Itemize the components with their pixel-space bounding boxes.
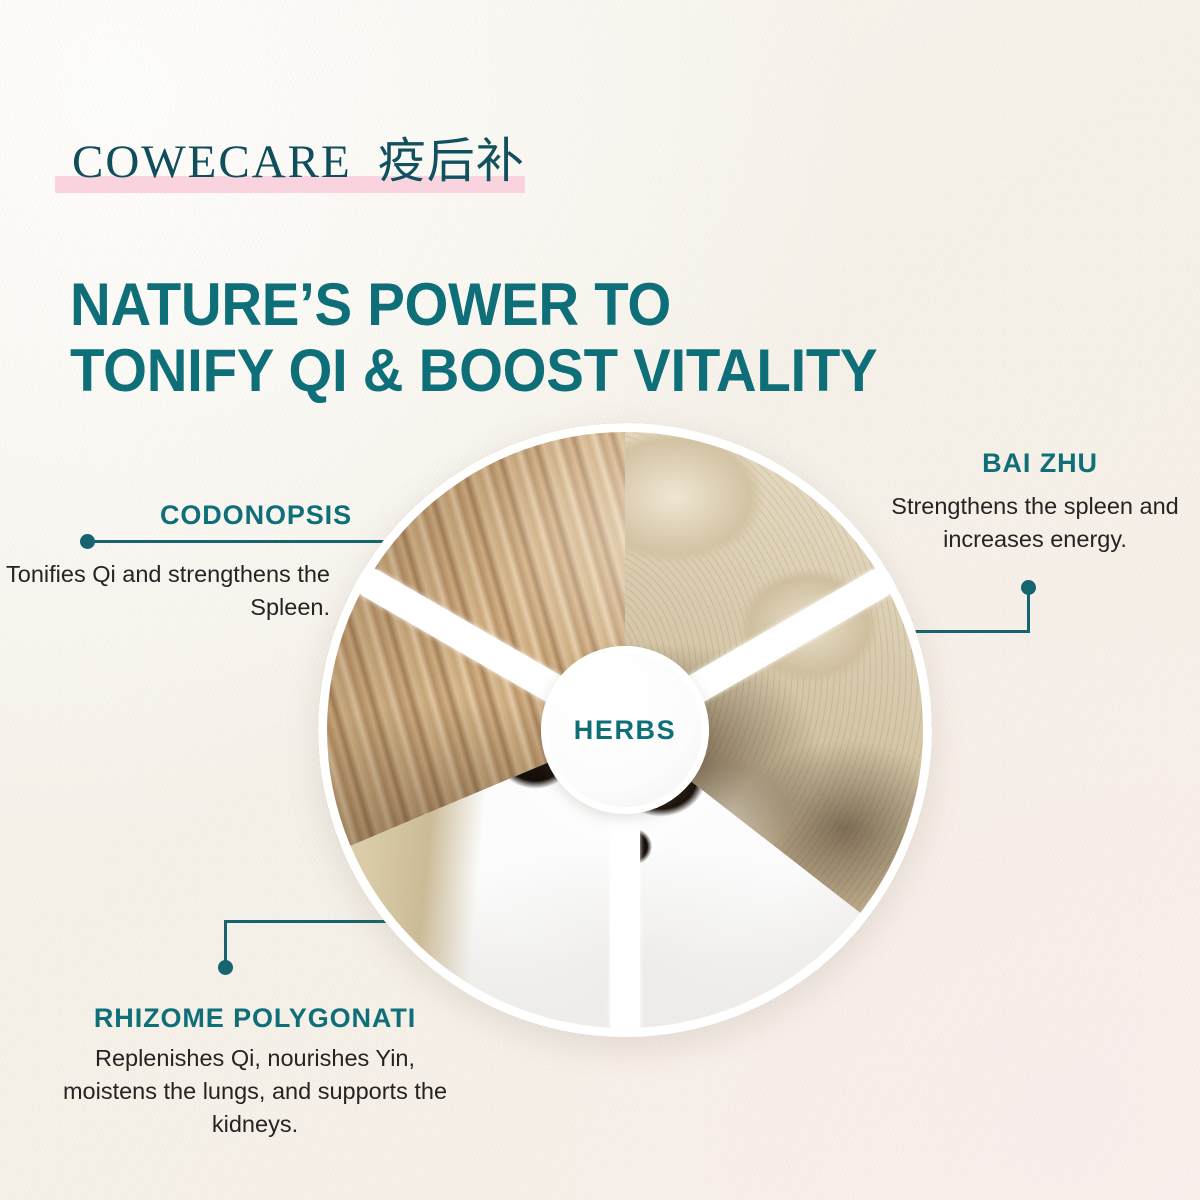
callout-body-bai-zhu: Strengthens the spleen and increases ene… bbox=[888, 490, 1182, 556]
brand-name-en: COWECARE bbox=[72, 139, 352, 186]
brand-name-cn: 疫后补 bbox=[378, 137, 525, 185]
callout-title-bai-zhu: BAI ZHU bbox=[900, 448, 1180, 479]
infographic-poster: COWECARE 疫后补 NATURE’S POWER TO TONIFY QI… bbox=[0, 0, 1200, 1200]
plate-center-hub: HERBS bbox=[541, 646, 709, 814]
bai-zhu-connector-line-vertical bbox=[1027, 587, 1030, 633]
headline-line-1: NATURE’S POWER TO bbox=[70, 272, 916, 338]
herb-plate: HERBS bbox=[318, 423, 932, 1037]
page-title: NATURE’S POWER TO TONIFY QI & BOOST VITA… bbox=[70, 272, 916, 404]
callout-body-rhizome-polygonati: Replenishes Qi, nourishes Yin, moistens … bbox=[50, 1042, 460, 1141]
rhizome-connector-line-vertical bbox=[224, 920, 227, 966]
headline-line-2: TONIFY QI & BOOST VITALITY bbox=[70, 338, 916, 404]
callout-title-rhizome-polygonati: RHIZOME POLYGONATI bbox=[40, 1003, 470, 1034]
brand-lockup: COWECARE 疫后补 bbox=[72, 137, 525, 199]
callout-body-codonopsis: Tonifies Qi and strengthens the Spleen. bbox=[0, 558, 330, 624]
herbs-label: HERBS bbox=[574, 715, 677, 746]
callout-title-codonopsis: CODONOPSIS bbox=[0, 500, 352, 531]
